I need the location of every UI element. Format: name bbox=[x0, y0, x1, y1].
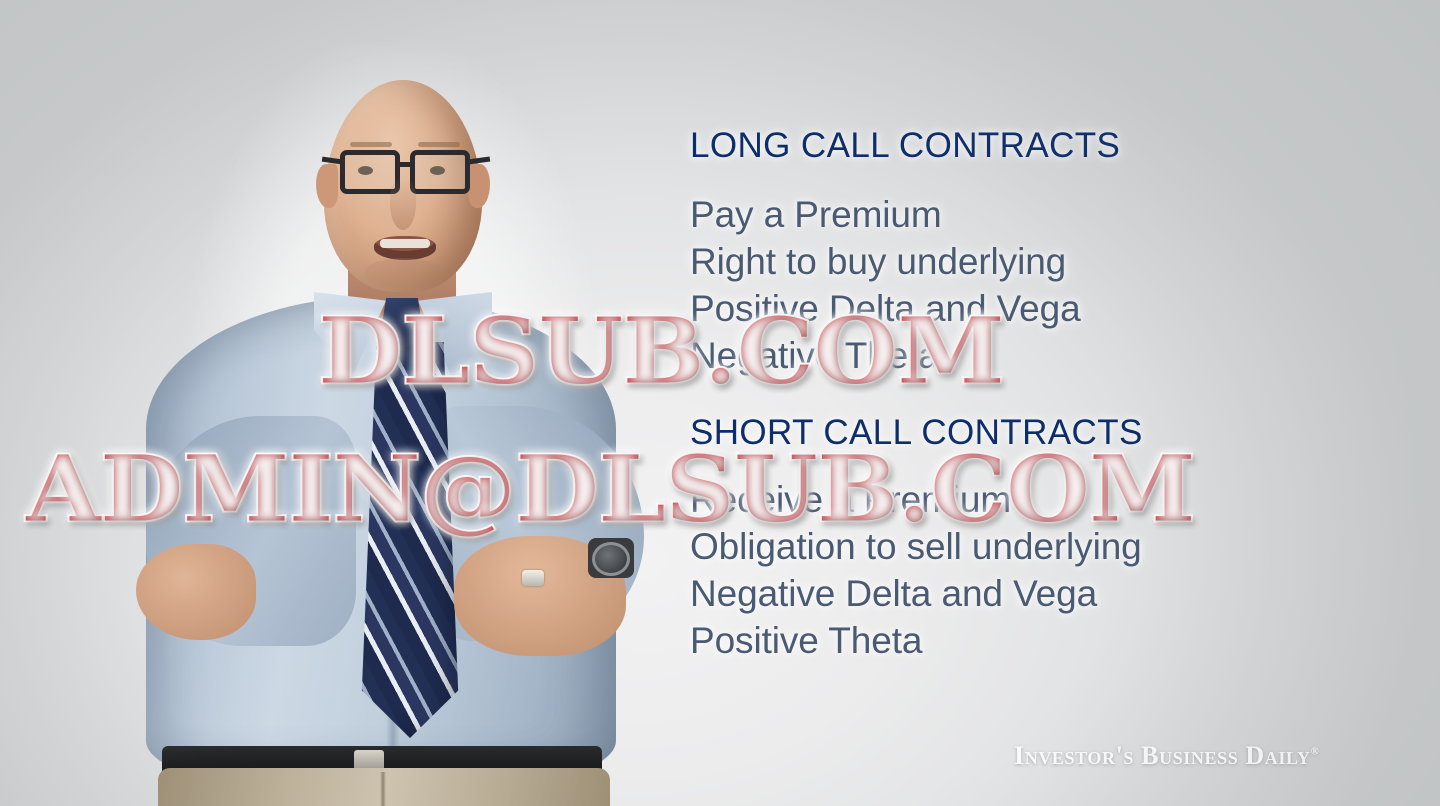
short-call-line-3: Negative Delta and Vega bbox=[690, 573, 1143, 615]
video-frame: LONG CALL CONTRACTS Pay a Premium Right … bbox=[0, 0, 1440, 806]
short-call-line-4: Positive Theta bbox=[690, 620, 1143, 662]
long-call-heading: LONG CALL CONTRACTS bbox=[690, 126, 1120, 166]
wristwatch-face bbox=[592, 542, 630, 576]
eyeglasses-bridge bbox=[398, 162, 414, 167]
wedding-ring bbox=[522, 570, 544, 586]
long-call-line-2: Right to buy underlying bbox=[690, 241, 1120, 283]
eyeglasses-lens-right bbox=[410, 150, 470, 194]
hand-left bbox=[136, 544, 256, 640]
ear-left bbox=[316, 164, 338, 208]
presenter-figure bbox=[118, 46, 678, 806]
investors-business-daily-logo: Investor's Business Daily® bbox=[1014, 741, 1319, 771]
teeth bbox=[380, 239, 430, 248]
trouser-seam bbox=[380, 772, 386, 806]
watermark-contact-email: ADMIN@DLSUB.COM bbox=[26, 443, 1195, 535]
long-call-line-1: Pay a Premium bbox=[690, 194, 1120, 236]
registered-trademark-icon: ® bbox=[1311, 745, 1320, 757]
eyebrow-left bbox=[350, 142, 392, 147]
watermark-site-url: DLSUB.COM bbox=[318, 305, 1004, 397]
eyebrow-right bbox=[418, 142, 460, 147]
logo-wordmark: Investor's Business Daily bbox=[1014, 741, 1311, 770]
nose bbox=[390, 178, 416, 230]
chin bbox=[364, 258, 444, 288]
